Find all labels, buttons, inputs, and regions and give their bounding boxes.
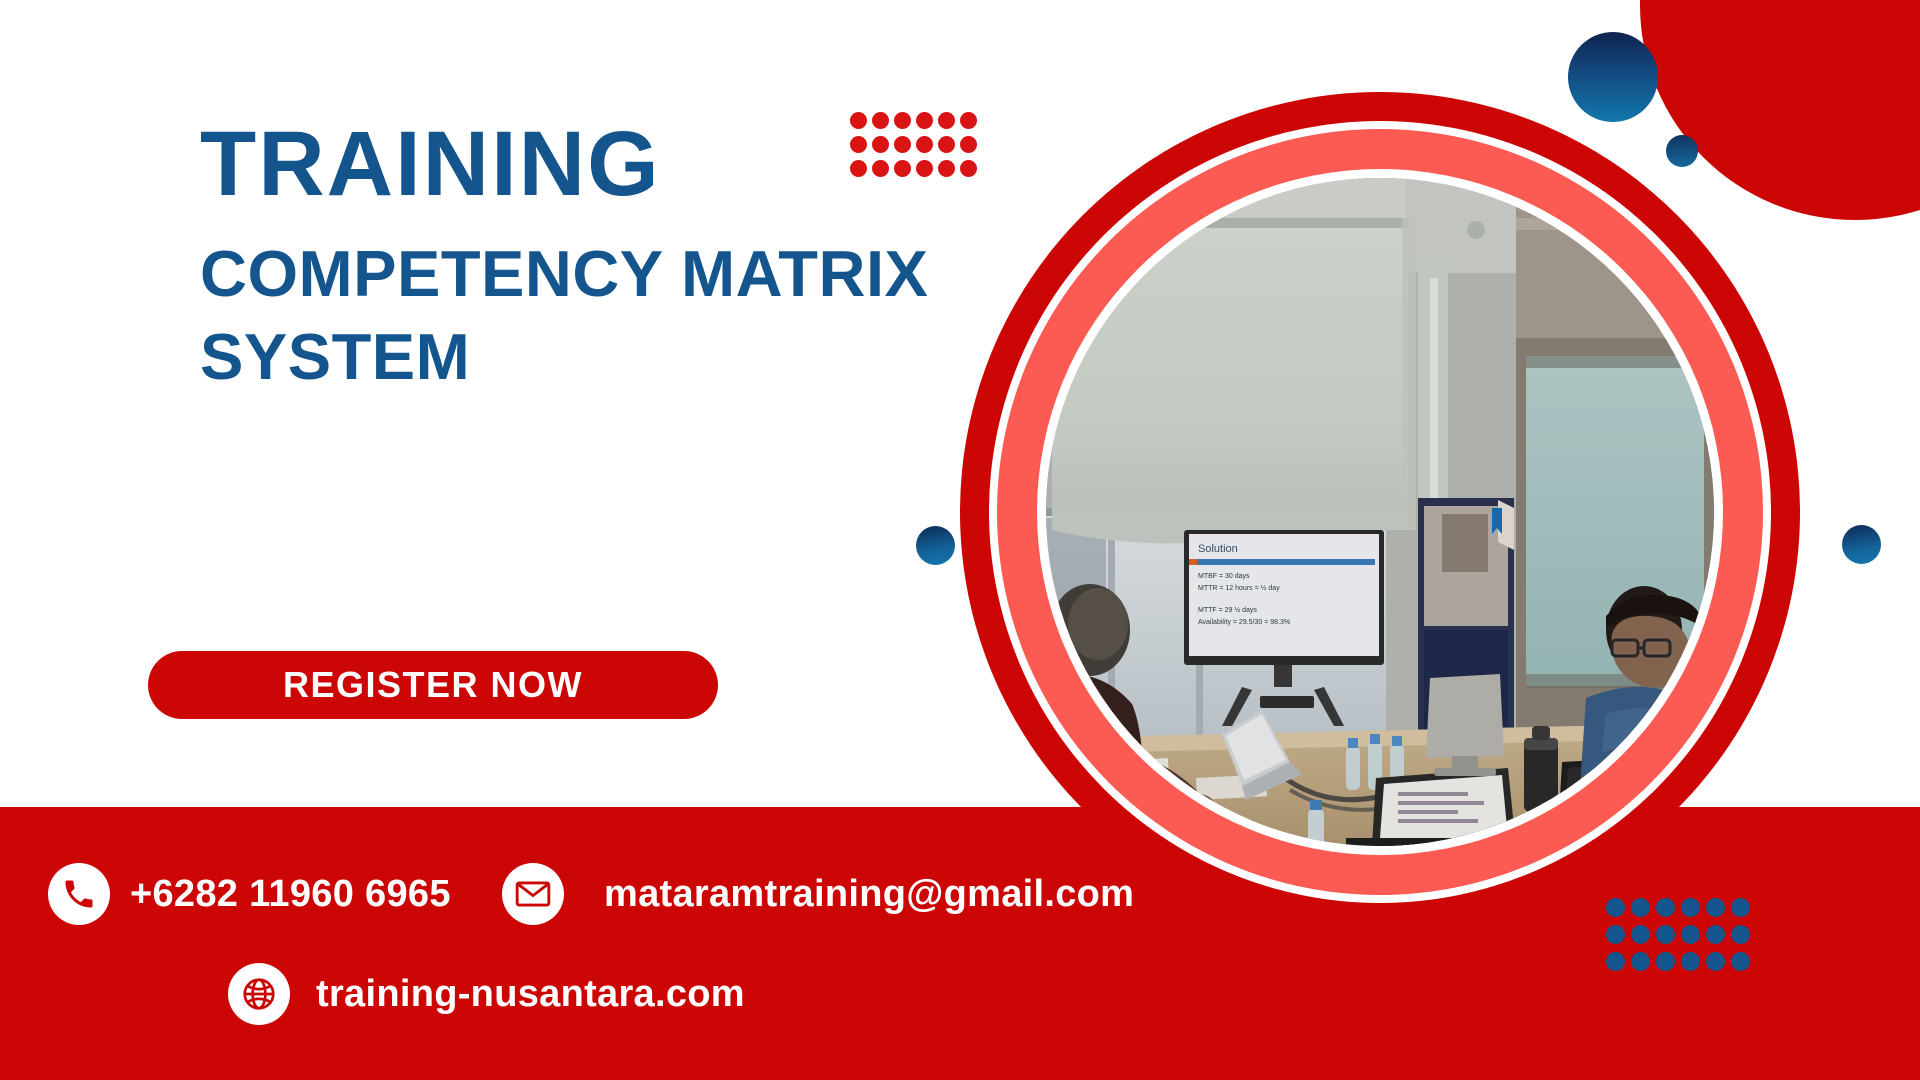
training-room-image: Solution MTBF = 30 days MTTR = 12 hours …	[1046, 178, 1714, 846]
email-address: mataramtraining@gmail.com	[604, 873, 1134, 916]
photo-frame-outer-ring: Solution MTBF = 30 days MTTR = 12 hours …	[960, 92, 1800, 932]
photo-frame-coral-ring: Solution MTBF = 30 days MTTR = 12 hours …	[997, 129, 1763, 895]
gradient-dot-icon	[1842, 525, 1881, 564]
page-title: TRAINING	[200, 118, 980, 210]
contact-phone[interactable]: +6282 11960 6965	[48, 863, 451, 925]
email-icon	[502, 863, 564, 925]
dot-grid-icon	[1606, 898, 1756, 979]
page-subtitle: COMPETENCY MATRIX SYSTEM	[200, 232, 980, 398]
gradient-dot-icon	[916, 526, 955, 565]
register-now-button[interactable]: REGISTER NOW	[148, 651, 718, 719]
promo-banner: TRAINING COMPETENCY MATRIX SYSTEM REGIST…	[0, 0, 1920, 1080]
gradient-circle-icon	[1568, 32, 1658, 122]
gradient-circle-icon	[1666, 135, 1698, 167]
photo-frame-white-ring-inner: Solution MTBF = 30 days MTTR = 12 hours …	[1037, 169, 1723, 855]
contact-email[interactable]: mataramtraining@gmail.com	[502, 863, 1134, 925]
phone-icon	[48, 863, 110, 925]
training-photo: Solution MTBF = 30 days MTTR = 12 hours …	[1046, 178, 1714, 846]
globe-icon	[228, 963, 290, 1025]
contact-website[interactable]: training-nusantara.com	[228, 963, 745, 1025]
headline-block: TRAINING COMPETENCY MATRIX SYSTEM	[200, 118, 980, 398]
website-url: training-nusantara.com	[316, 973, 745, 1016]
phone-number: +6282 11960 6965	[130, 873, 451, 916]
photo-frame-white-ring-outer: Solution MTBF = 30 days MTTR = 12 hours …	[989, 121, 1771, 903]
